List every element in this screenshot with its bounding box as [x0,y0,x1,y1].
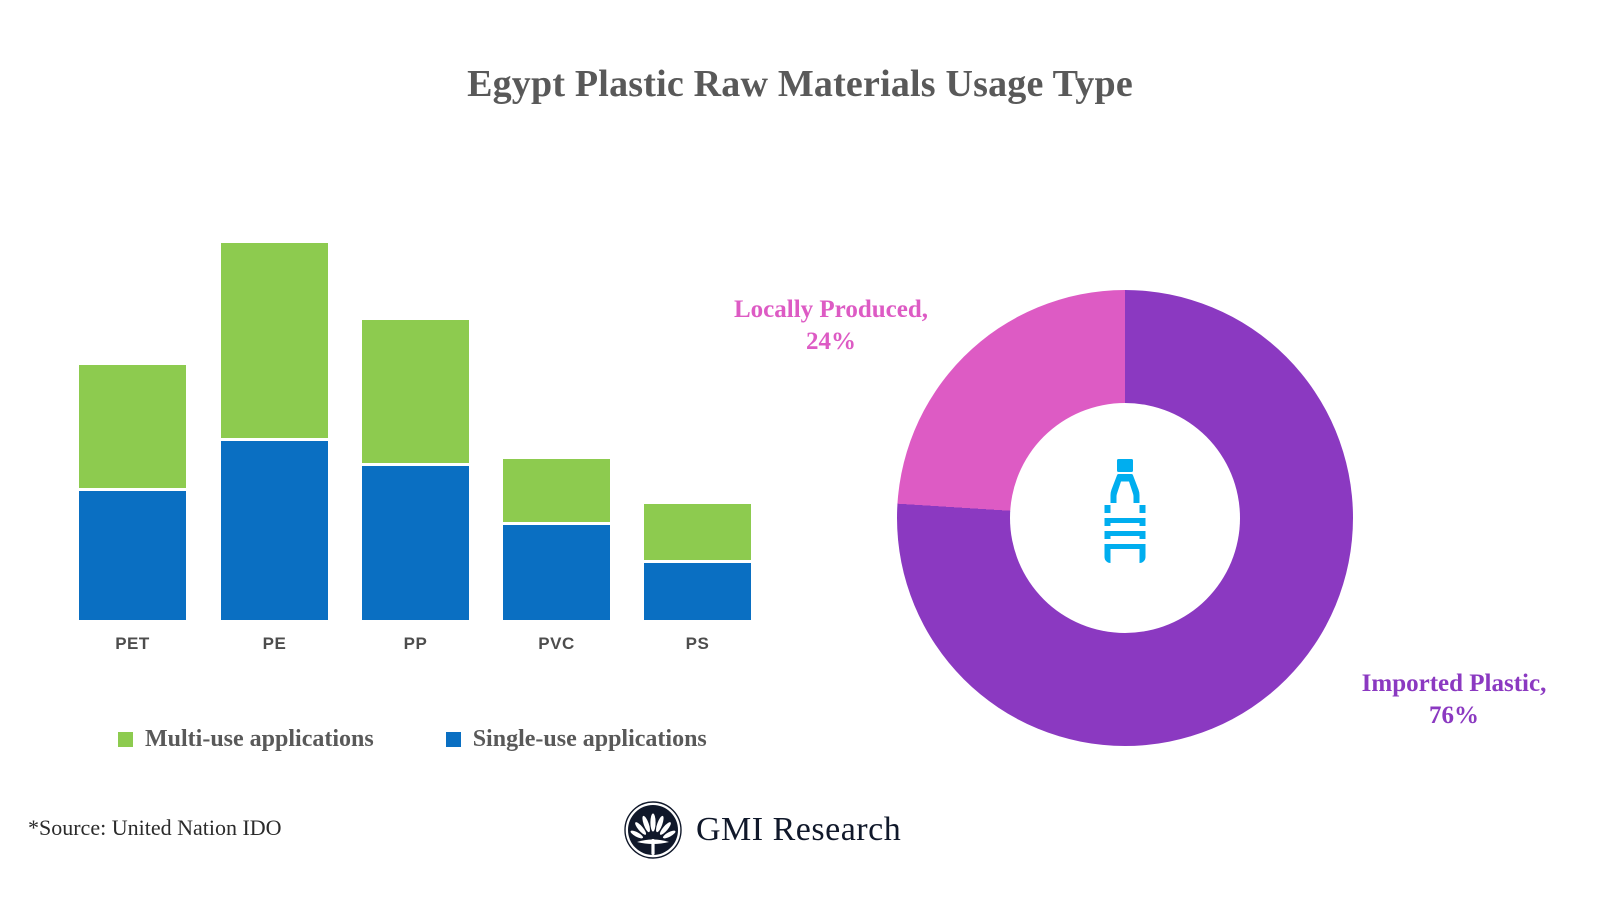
legend-label-single-use: Single-use applications [473,726,707,753]
bar-group-pet[interactable]: PET [79,365,186,620]
legend-item-single-use[interactable]: Single-use applications [446,726,707,753]
legend-item-multi-use[interactable]: Multi-use applications [118,726,374,753]
bar-segment-multi-use[interactable] [503,459,610,522]
bar-group-pp[interactable]: PP [362,320,469,620]
infographic-canvas: Egypt Plastic Raw Materials Usage Type P… [0,0,1600,900]
donut-label-imported-plastic: Imported Plastic, 76% [1318,668,1590,731]
bar-segment-multi-use[interactable] [79,365,186,488]
bar-segment-single-use[interactable] [503,525,610,620]
bar-label-pe: PE [221,634,328,654]
bar-group-pvc[interactable]: PVC [503,459,610,620]
bar-group-pe[interactable]: PE [221,243,328,620]
water-bottle-icon [1097,459,1153,577]
stacked-bar-chart: PET PE PP PVC PS [60,270,800,690]
bar-label-pp: PP [362,634,469,654]
bar-segment-single-use[interactable] [221,441,328,620]
bar-label-pet: PET [79,634,186,654]
gmi-shell-logo-icon [624,801,682,859]
bar-segment-single-use[interactable] [362,466,469,620]
bar-segment-single-use[interactable] [79,491,186,620]
bar-label-pvc: PVC [503,634,610,654]
bar-group-ps[interactable]: PS [644,504,751,620]
donut-label-local-value: 24% [806,328,856,355]
bar-label-ps: PS [644,634,751,654]
legend-swatch-icon [446,732,461,747]
legend-label-multi-use: Multi-use applications [145,726,374,753]
donut-label-imported-name: Imported Plastic, [1362,670,1547,697]
donut-label-locally-produced: Locally Produced, 24% [700,294,962,357]
donut-label-imported-value: 76% [1429,702,1479,729]
bar-segment-multi-use[interactable] [644,504,751,560]
source-note: *Source: United Nation IDO [28,815,282,841]
bar-segment-multi-use[interactable] [362,320,469,463]
donut-chart [897,290,1353,746]
gmi-research-logo[interactable]: GMI Research [624,801,901,859]
page-title: Egypt Plastic Raw Materials Usage Type [0,62,1600,106]
gmi-wordmark: GMI Research [696,811,901,849]
bar-segment-single-use[interactable] [644,563,751,620]
bar-segment-multi-use[interactable] [221,243,328,438]
legend-swatch-icon [118,732,133,747]
donut-label-local-name: Locally Produced, [734,296,928,323]
bar-chart-legend: Multi-use applications Single-use applic… [118,726,707,753]
